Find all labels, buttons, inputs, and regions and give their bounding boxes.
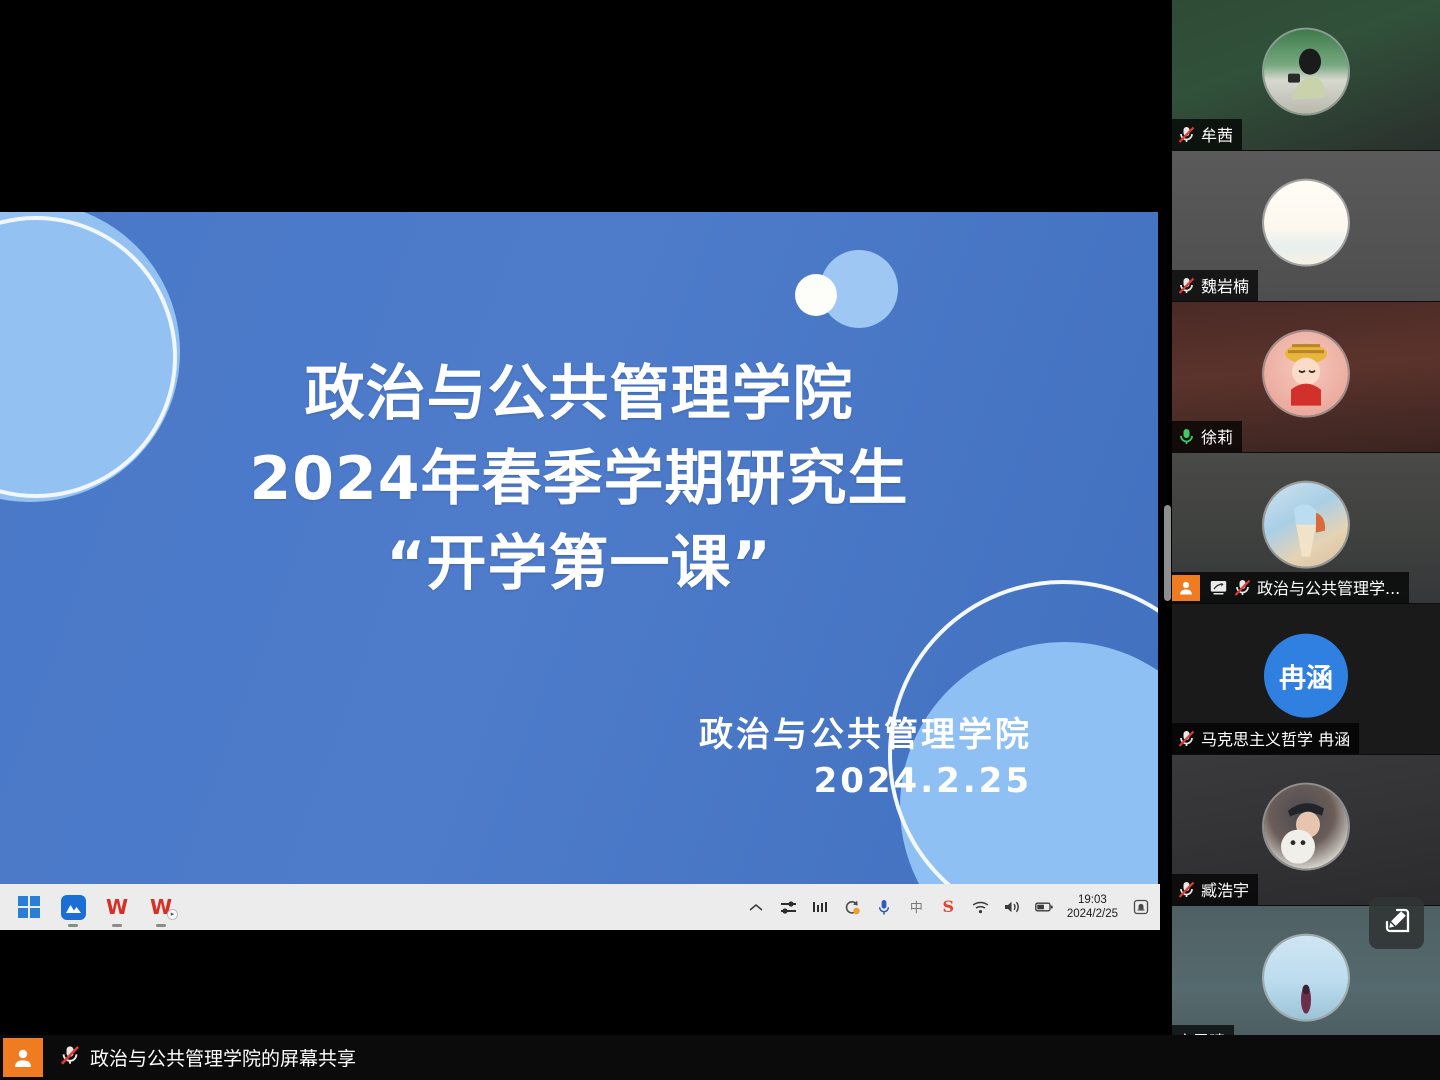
- blue-app-button[interactable]: [58, 892, 88, 922]
- host-person-icon: [1172, 575, 1200, 601]
- host-person-icon: [3, 1038, 43, 1077]
- mic-unmuted-icon: [1177, 427, 1196, 446]
- participant-tile-host[interactable]: 政治与公共管理学...: [1172, 453, 1440, 604]
- photos-app-icon: [61, 895, 86, 920]
- screen-share-status: 政治与公共管理学院的屏幕共享: [59, 1044, 356, 1071]
- annotate-toolbar-button[interactable]: [1369, 897, 1424, 949]
- shared-screen-area[interactable]: 政治与公共管理学院 2024年春季学期研究生 “开学第一课” 政治与公共管理学院…: [0, 0, 1160, 1035]
- meeting-status-bar: 政治与公共管理学院的屏幕共享: [0, 1035, 1440, 1080]
- avatar: [1264, 483, 1348, 567]
- wps-w-icon: W ▸: [150, 897, 172, 917]
- equalizer-icon[interactable]: [811, 898, 830, 917]
- avatar-initials: 冉涵: [1264, 634, 1348, 718]
- notification-bell-icon[interactable]: [1131, 898, 1150, 917]
- scrollbar-thumb[interactable]: [1164, 505, 1171, 601]
- taskbar-clock[interactable]: 19:03 2024/2/25: [1067, 893, 1118, 922]
- mic-muted-icon: [59, 1044, 81, 1071]
- zoom-meeting-window: 政治与公共管理学院 2024年春季学期研究生 “开学第一课” 政治与公共管理学院…: [0, 0, 1440, 1080]
- microphone-icon[interactable]: [875, 898, 894, 917]
- avatar: [1264, 785, 1348, 869]
- participant-name-bar: 臧浩宇: [1172, 874, 1258, 905]
- participant-strip-scrollbar[interactable]: [1163, 0, 1172, 1080]
- participant-name: 政治与公共管理学...: [1257, 575, 1400, 599]
- wps-office-button[interactable]: W: [102, 892, 132, 922]
- windows-taskbar[interactable]: W W ▸: [0, 884, 1160, 930]
- ime-chinese-icon[interactable]: 中: [907, 898, 926, 917]
- mic-muted-icon: [1233, 578, 1252, 597]
- mic-muted-icon: [1177, 276, 1196, 295]
- taskbar-running-dot: [112, 924, 122, 927]
- participant-tile[interactable]: 臧浩宇: [1172, 755, 1440, 906]
- clock-date: 2024/2/25: [1067, 907, 1118, 921]
- avatar: [1264, 332, 1348, 416]
- sogou-input-icon[interactable]: S: [939, 898, 958, 917]
- mic-muted-icon: [1177, 729, 1196, 748]
- wifi-icon[interactable]: [971, 898, 990, 917]
- participant-name: 臧浩宇: [1201, 877, 1249, 901]
- pen-annotate-icon: [1382, 906, 1412, 941]
- system-tray: 中 S: [747, 893, 1160, 922]
- status-text: 政治与公共管理学院的屏幕共享: [90, 1044, 356, 1071]
- slide-title-line-3: “开学第一课”: [0, 522, 1158, 607]
- clock-time: 19:03: [1067, 893, 1118, 907]
- participant-tile[interactable]: 牟茜: [1172, 0, 1440, 151]
- slide-title-line-1: 政治与公共管理学院: [0, 352, 1158, 437]
- participant-name: 魏岩楠: [1201, 273, 1249, 297]
- participant-name: 徐莉: [1201, 424, 1233, 448]
- windows-logo-icon: [18, 896, 40, 918]
- volume-icon[interactable]: [1003, 898, 1022, 917]
- participant-tile[interactable]: 徐莉: [1172, 302, 1440, 453]
- mic-muted-icon: [1177, 125, 1196, 144]
- participant-tile[interactable]: 冉涵 马克思主义哲学 冉涵: [1172, 604, 1440, 755]
- slide-title-line-2: 2024年春季学期研究生: [0, 437, 1158, 522]
- show-hidden-icons-button[interactable]: [747, 898, 766, 917]
- avatar: [1264, 936, 1348, 1020]
- participant-name-bar: 马克思主义哲学 冉涵: [1172, 723, 1359, 754]
- slide-organization: 政治与公共管理学院: [699, 713, 1032, 759]
- presentation-slide: 政治与公共管理学院 2024年春季学期研究生 “开学第一课” 政治与公共管理学院…: [0, 212, 1158, 884]
- battery-icon[interactable]: [1035, 898, 1054, 917]
- screen-share-icon: [1209, 578, 1228, 597]
- mic-muted-icon: [1177, 880, 1196, 899]
- slide-footer: 政治与公共管理学院 2024.2.25: [699, 713, 1032, 806]
- participant-name: 牟茜: [1201, 122, 1233, 146]
- participant-name-bar: 牟茜: [1172, 119, 1242, 150]
- wps-office-doc-button[interactable]: W ▸: [146, 892, 176, 922]
- participant-name-bar: 政治与公共管理学...: [1172, 572, 1409, 603]
- start-button[interactable]: [14, 892, 44, 922]
- taskbar-running-dot: [156, 924, 166, 927]
- sync-icon[interactable]: [843, 898, 862, 917]
- wps-w-icon: W: [106, 897, 128, 917]
- taskbar-running-dot: [68, 924, 78, 927]
- slide-title: 政治与公共管理学院 2024年春季学期研究生 “开学第一课”: [0, 352, 1158, 608]
- decorative-dot-topright: [795, 274, 837, 316]
- taskbar-app-list: W W ▸: [0, 892, 176, 922]
- slide-date: 2024.2.25: [699, 758, 1032, 806]
- participant-tile[interactable]: 魏岩楠: [1172, 151, 1440, 302]
- avatar: [1264, 30, 1348, 114]
- wps-overlay-badge-icon: ▸: [167, 909, 178, 920]
- participant-name: 马克思主义哲学 冉涵: [1201, 726, 1350, 750]
- avatar: [1264, 181, 1348, 265]
- settings-sliders-icon[interactable]: [779, 898, 798, 917]
- participant-name-bar: 魏岩楠: [1172, 270, 1258, 301]
- participant-name-bar: 徐莉: [1172, 421, 1242, 452]
